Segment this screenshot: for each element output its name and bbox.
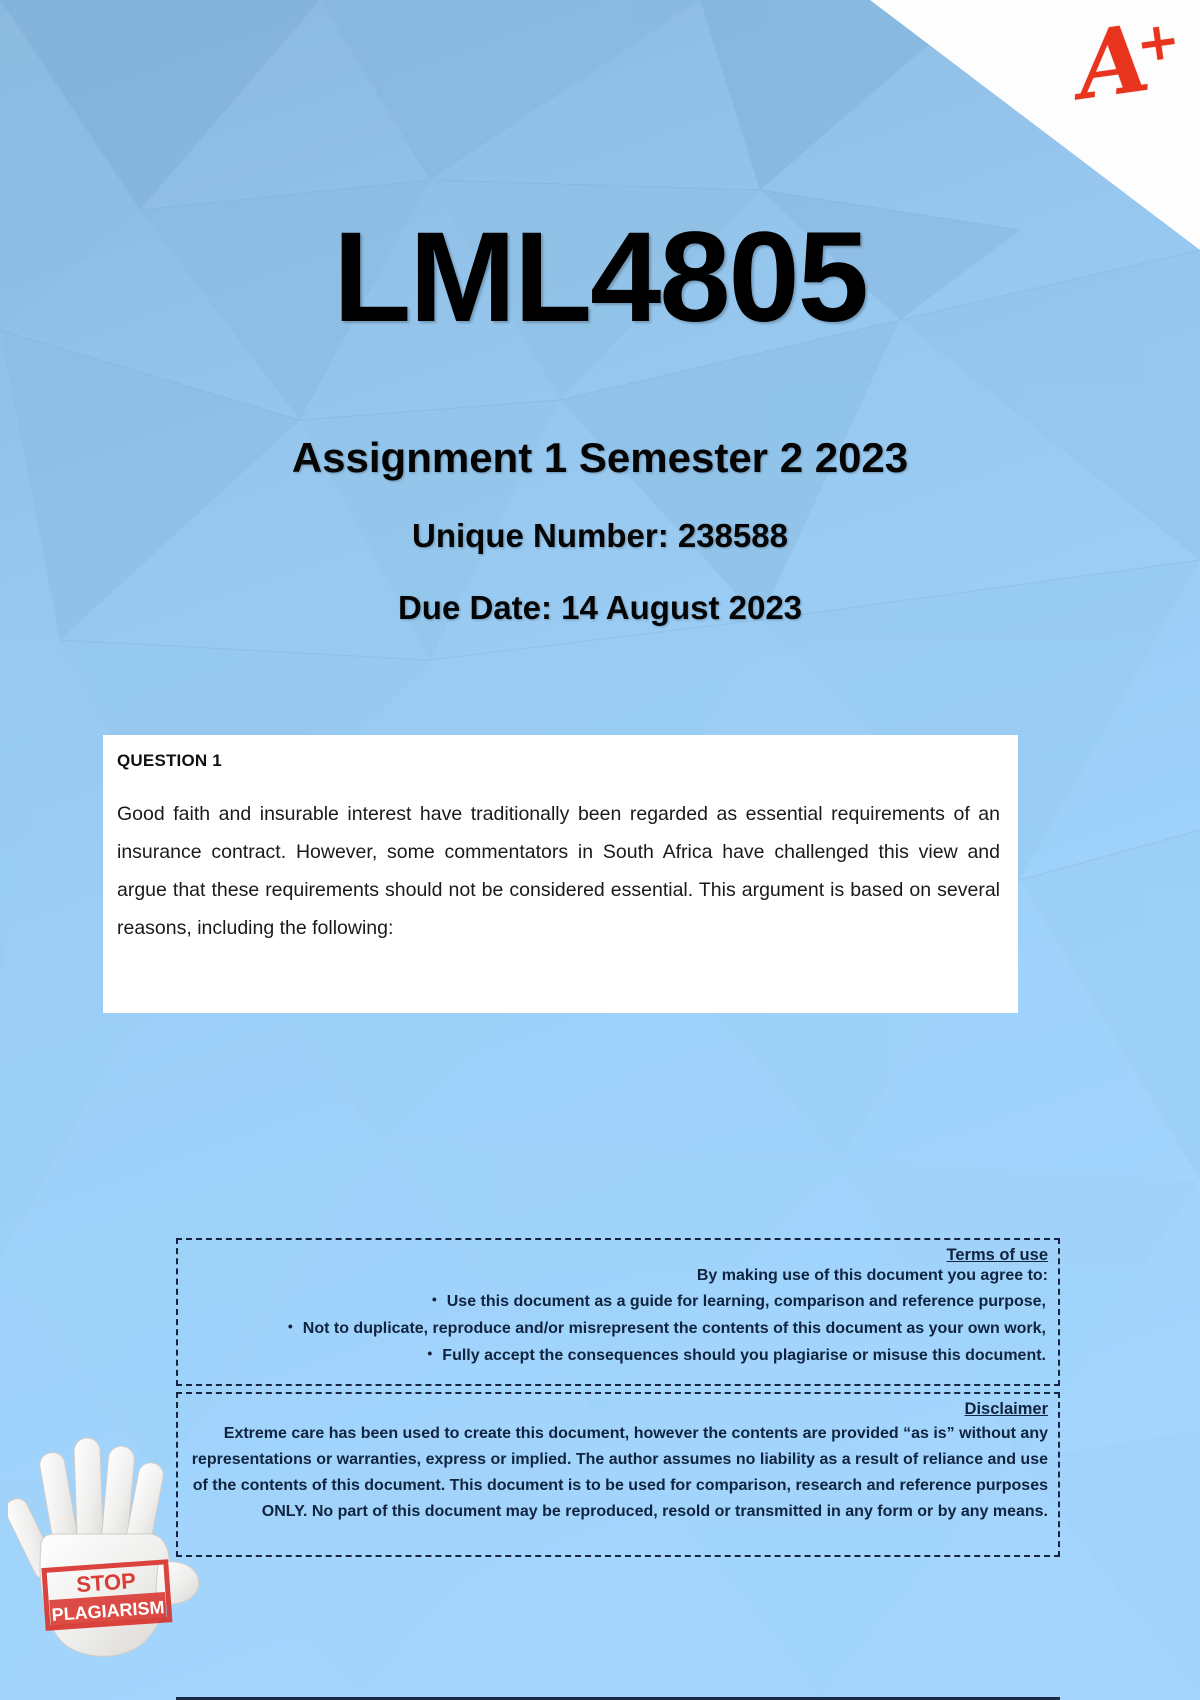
terms-of-use-title: Terms of use (188, 1246, 1048, 1265)
terms-of-use-lead: By making use of this document you agree… (188, 1267, 1048, 1285)
terms-item-text: Fully accept the consequences should you… (442, 1347, 1046, 1364)
grade-corner: A+ (870, 0, 1200, 250)
disclaimer-box: Disclaimer Extreme care has been used to… (176, 1392, 1060, 1557)
terms-of-use-box: Terms of use By making use of this docum… (176, 1238, 1060, 1386)
bullet-icon: • (288, 1314, 293, 1339)
bullet-icon: • (432, 1287, 437, 1312)
question-heading: QUESTION 1 (117, 751, 1000, 771)
bullet-icon: • (427, 1341, 432, 1366)
terms-item-text: Not to duplicate, reproduce and/or misre… (303, 1320, 1046, 1337)
terms-of-use-list: •Use this document as a guide for learni… (188, 1287, 1048, 1368)
page-title: LML4805 (0, 214, 1200, 342)
a-plus-grade-mark: A+ (1070, 0, 1185, 121)
document-page: A+ LML4805 Assignment 1 Semester 2 2023 … (0, 0, 1200, 1700)
list-item: •Not to duplicate, reproduce and/or misr… (188, 1314, 1048, 1341)
grade-plus-symbol: + (1132, 9, 1180, 75)
terms-item-text: Use this document as a guide for learnin… (447, 1293, 1046, 1310)
stop-plagiarism-graphic: STOP PLAGIARISM (8, 1368, 208, 1668)
list-item: •Use this document as a guide for learni… (188, 1287, 1048, 1314)
list-item: •Fully accept the consequences should yo… (188, 1341, 1048, 1368)
grade-letter: A (1070, 4, 1152, 120)
question-body-text: Good faith and insurable interest have t… (117, 795, 1000, 947)
question-panel: QUESTION 1 Good faith and insurable inte… (103, 735, 1018, 1013)
unique-number-subtitle: Unique Number: 238588 (0, 517, 1200, 555)
corner-white-triangle (870, 0, 1200, 250)
assignment-subtitle: Assignment 1 Semester 2 2023 (0, 434, 1200, 482)
disclaimer-body-text: Extreme care has been used to create thi… (188, 1421, 1048, 1525)
due-date-subtitle: Due Date: 14 August 2023 (0, 589, 1200, 627)
disclaimer-title: Disclaimer (188, 1400, 1048, 1419)
open-hand-icon: STOP PLAGIARISM (8, 1368, 208, 1668)
stamp-line-1: STOP (76, 1568, 137, 1597)
